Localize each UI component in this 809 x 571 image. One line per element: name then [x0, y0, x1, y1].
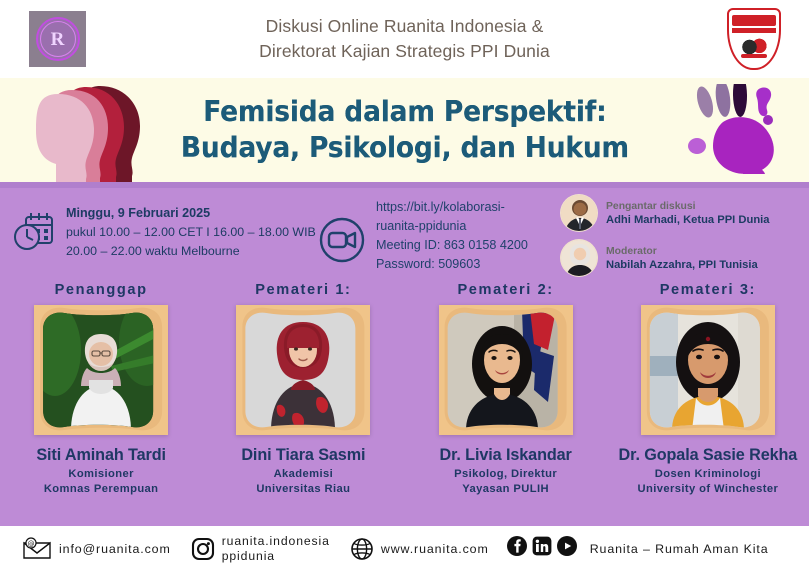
meeting-block: https://bit.ly/kolaborasi- ruanita-ppidu… [318, 198, 528, 274]
meeting-link-line1[interactable]: https://bit.ly/kolaborasi- [376, 198, 528, 217]
datetime-block: Minggu, 9 Februari 2025 pukul 10.00 – 12… [12, 204, 316, 260]
host-row: Pengantar diskusi Adhi Marhadi, Ketua PP… [560, 194, 806, 232]
header-title-line1: Diskusi Online Ruanita Indonesia & [259, 14, 550, 39]
speakers-row: Penanggap [0, 282, 809, 518]
speaker-subtitle: Dosen Kriminologi University of Winchest… [638, 467, 779, 497]
speaker-role: Pemateri 3: [660, 282, 756, 298]
social-icons [507, 536, 577, 561]
calendar-clock-icon [12, 211, 56, 253]
linkedin-icon[interactable] [532, 536, 552, 561]
speaker-subtitle-line1: Dosen Kriminologi [638, 467, 779, 482]
speaker-role: Pemateri 1: [255, 282, 351, 298]
moderator-row: Moderator Nabilah Azzahra, PPI Tunisia [560, 239, 806, 277]
instagram-icon [191, 537, 215, 561]
footer-instagram-item[interactable]: ruanita.indonesia ppidunia [191, 534, 330, 564]
header-title-line2: Direktorat Kajian Strategis PPI Dunia [259, 39, 550, 64]
speaker-subtitle-line1: Komisioner [44, 467, 159, 482]
avatar [560, 239, 598, 277]
hosts-block: Pengantar diskusi Adhi Marhadi, Ketua PP… [560, 194, 806, 284]
moderator-role: Moderator [606, 245, 758, 258]
footer-social-handle: Ruanita – Rumah Aman Kita [590, 542, 769, 556]
host-text: Pengantar diskusi Adhi Marhadi, Ketua PP… [606, 200, 769, 227]
speaker-name: Dini Tiara Sasmi [241, 446, 365, 465]
speaker-name: Siti Aminah Tardi [36, 446, 166, 465]
event-time-line1: pukul 10.00 – 12.00 CET I 16.00 – 18.00 … [66, 223, 316, 242]
meeting-text: https://bit.ly/kolaborasi- ruanita-ppidu… [376, 198, 528, 274]
moderator-name: Nabilah Azzahra, PPI Tunisia [606, 258, 758, 272]
footer-social-item[interactable]: Ruanita – Rumah Aman Kita [507, 536, 769, 561]
page-title-line2: Budaya, Psikologi, dan Hukum [180, 130, 628, 166]
speaker-subtitle-line2: Komnas Perempuan [44, 482, 159, 497]
speaker-photo-frame [641, 305, 775, 435]
footer-email-text: info@ruanita.com [59, 542, 171, 556]
speaker-card-pemateri-1: Pemateri 1: [202, 282, 404, 518]
speaker-photo-frame [34, 305, 168, 435]
poster-root: Diskusi Online Ruanita Indonesia & Direk… [0, 0, 809, 571]
ruanita-logo-ring: R [36, 17, 80, 61]
footer: @ info@ruanita.com ruanita.indonesia ppi… [0, 526, 809, 571]
shield-icon [727, 8, 781, 70]
speaker-subtitle-line1: Psikolog, Direktur [454, 467, 557, 482]
globe-icon [350, 537, 374, 561]
header-title: Diskusi Online Ruanita Indonesia & Direk… [259, 14, 550, 65]
svg-text:@: @ [28, 540, 35, 548]
speaker-subtitle-line1: Akademisi [256, 467, 350, 482]
youtube-icon[interactable] [557, 536, 577, 561]
handprint-icon [683, 84, 791, 178]
footer-instagram-line1: ruanita.indonesia [222, 534, 330, 549]
main-body: Minggu, 9 Februari 2025 pukul 10.00 – 12… [0, 182, 809, 526]
host-role: Pengantar diskusi [606, 200, 769, 213]
meeting-password: Password: 509603 [376, 255, 528, 274]
ppi-dunia-logo [727, 8, 781, 70]
host-name: Adhi Marhadi, Ketua PPI Dunia [606, 213, 769, 227]
speaker-subtitle-line2: Universitas Riau [256, 482, 350, 497]
speaker-photo-frame [236, 305, 370, 435]
header: Diskusi Online Ruanita Indonesia & Direk… [0, 0, 809, 78]
speaker-card-pemateri-3: Pemateri 3: [607, 282, 809, 518]
footer-website-item[interactable]: www.ruanita.com [350, 537, 489, 561]
speaker-role: Pemateri 2: [457, 282, 553, 298]
body-top-strip [0, 182, 809, 188]
speaker-subtitle: Psikolog, Direktur Yayasan PULIH [454, 467, 557, 497]
email-icon: @ [22, 537, 52, 561]
speaker-card-pemateri-2: Pemateri 2: [405, 282, 607, 518]
avatar [560, 194, 598, 232]
speaker-photo-frame [439, 305, 573, 435]
page-title: Femisida dalam Perspektif: Budaya, Psiko… [180, 94, 628, 167]
speaker-role: Penanggap [55, 282, 148, 298]
ruanita-logo: R [29, 11, 86, 67]
facebook-icon[interactable] [507, 536, 527, 561]
speaker-subtitle: Akademisi Universitas Riau [256, 467, 350, 497]
meeting-id: Meeting ID: 863 0158 4200 [376, 236, 528, 255]
event-date: Minggu, 9 Februari 2025 [66, 204, 316, 223]
ruanita-logo-mark: R [51, 30, 65, 49]
speaker-name: Dr. Livia Iskandar [439, 446, 571, 465]
speaker-card-penanggap: Penanggap [0, 282, 202, 518]
video-camera-icon [318, 216, 366, 264]
info-row: Minggu, 9 Februari 2025 pukul 10.00 – 12… [0, 190, 809, 282]
datetime-text: Minggu, 9 Februari 2025 pukul 10.00 – 12… [66, 204, 316, 260]
women-silhouette-icon [28, 84, 146, 182]
event-time-line2: 20.00 – 22.00 waktu Melbourne [66, 242, 316, 261]
footer-instagram-text: ruanita.indonesia ppidunia [222, 534, 330, 564]
speaker-subtitle-line2: Yayasan PULIH [454, 482, 557, 497]
moderator-text: Moderator Nabilah Azzahra, PPI Tunisia [606, 245, 758, 272]
page-title-line1: Femisida dalam Perspektif: [180, 94, 628, 130]
footer-email-item[interactable]: @ info@ruanita.com [22, 537, 171, 561]
speaker-subtitle-line2: University of Winchester [638, 482, 779, 497]
meeting-link-line2[interactable]: ruanita-ppidunia [376, 217, 528, 236]
speaker-subtitle: Komisioner Komnas Perempuan [44, 467, 159, 497]
footer-website-text: www.ruanita.com [381, 542, 489, 556]
speaker-name: Dr. Gopala Sasie Rekha [619, 446, 798, 465]
footer-instagram-line2: ppidunia [222, 549, 330, 564]
